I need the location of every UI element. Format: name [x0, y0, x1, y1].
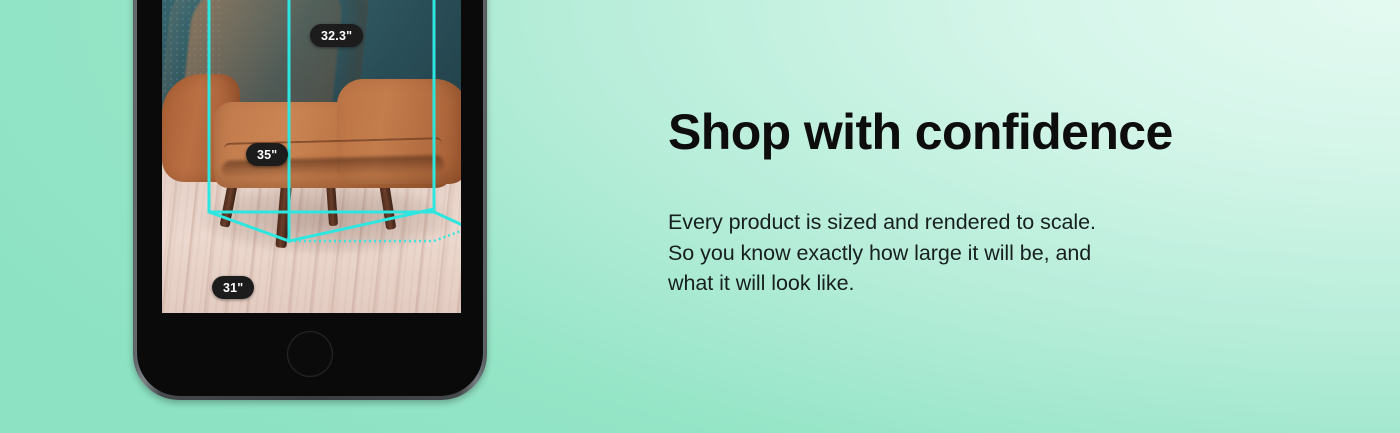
page-title: Shop with confidence — [668, 104, 1228, 160]
measurement-label-width: 32.3" — [310, 24, 363, 47]
banner-description: Every product is sized and rendered to s… — [668, 207, 1228, 299]
description-line: Every product is sized and rendered to s… — [668, 207, 1228, 238]
ar-shopping-banner: 32.3" 35" 31" Shop with confidence Every… — [0, 0, 1400, 433]
description-line: what it will look like. — [668, 268, 1228, 299]
description-line: So you know exactly how large it will be… — [668, 238, 1228, 269]
measurement-label-height: 35" — [246, 143, 288, 166]
phone-body: 32.3" 35" 31" — [137, 0, 483, 396]
phone-screen: 32.3" 35" 31" — [162, 0, 461, 313]
phone-home-button[interactable] — [287, 331, 333, 377]
measurement-label-depth: 31" — [212, 276, 254, 299]
banner-copy: Shop with confidence Every product is si… — [668, 104, 1228, 299]
smartphone-mockup: 32.3" 35" 31" — [133, 0, 487, 400]
ar-camera-view: 32.3" 35" 31" — [162, 0, 461, 313]
